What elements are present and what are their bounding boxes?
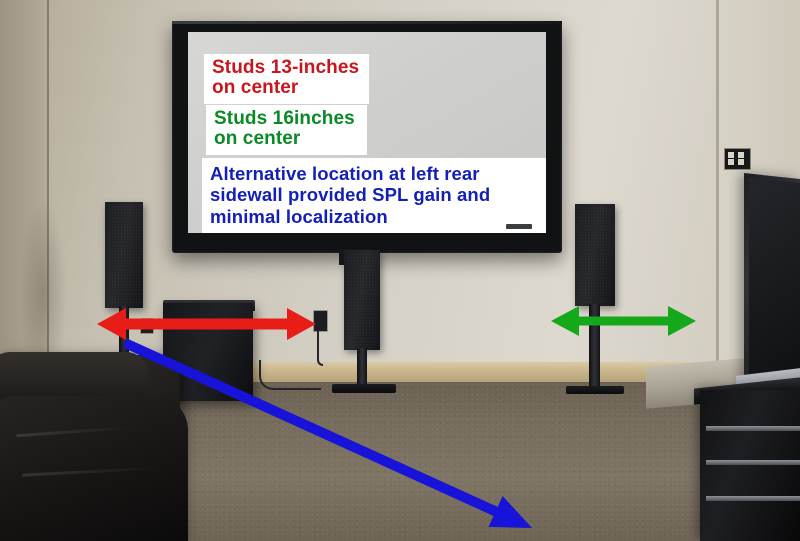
right-front-speaker: [575, 204, 615, 306]
right-speaker-stand-pole: [589, 304, 600, 390]
speaker-grille: [108, 205, 140, 305]
main-display: Studs 13-inches on center Studs 16inches…: [172, 21, 562, 253]
wall-plate-hole: [728, 152, 734, 158]
display-screen: Studs 13-inches on center Studs 16inches…: [188, 32, 546, 233]
center-speaker-stand-base: [332, 384, 396, 393]
wall-plate-right: [724, 148, 751, 170]
left-front-speaker: [105, 202, 143, 308]
home-theater-photo: Studs 13-inches on center Studs 16inches…: [0, 0, 800, 541]
wall-outlet-left: [140, 318, 154, 334]
speaker-grille: [578, 207, 612, 303]
callout-studs-13-inches: Studs 13-inches on center: [204, 54, 369, 104]
av-component-1: [706, 426, 800, 431]
callout-alternative-location: Alternative location at left rear sidewa…: [202, 158, 546, 233]
secondary-tv-screen: [749, 178, 800, 383]
av-component-3: [706, 496, 800, 501]
center-channel-speaker: [344, 250, 380, 350]
wall-plate-hole: [738, 152, 744, 158]
av-component-2: [706, 460, 800, 465]
callout-studs-16-inches: Studs 16inches on center: [206, 105, 367, 155]
wall-plate-hole: [738, 159, 744, 165]
display-brand-logo: [506, 224, 532, 229]
right-wall-corner: [716, 0, 719, 390]
av-equipment-rack: [700, 390, 800, 541]
center-speaker-stand-pole: [357, 348, 367, 388]
speaker-grille: [347, 253, 377, 347]
secondary-television: [744, 173, 800, 393]
outlet-cable-drop: [317, 330, 323, 366]
display-bezel-highlight: [172, 21, 562, 24]
wall-plate-hole: [728, 159, 734, 165]
right-speaker-stand-base: [566, 386, 624, 394]
wall-outlet-center: [313, 310, 328, 332]
subwoofer-power-cable: [259, 360, 321, 390]
